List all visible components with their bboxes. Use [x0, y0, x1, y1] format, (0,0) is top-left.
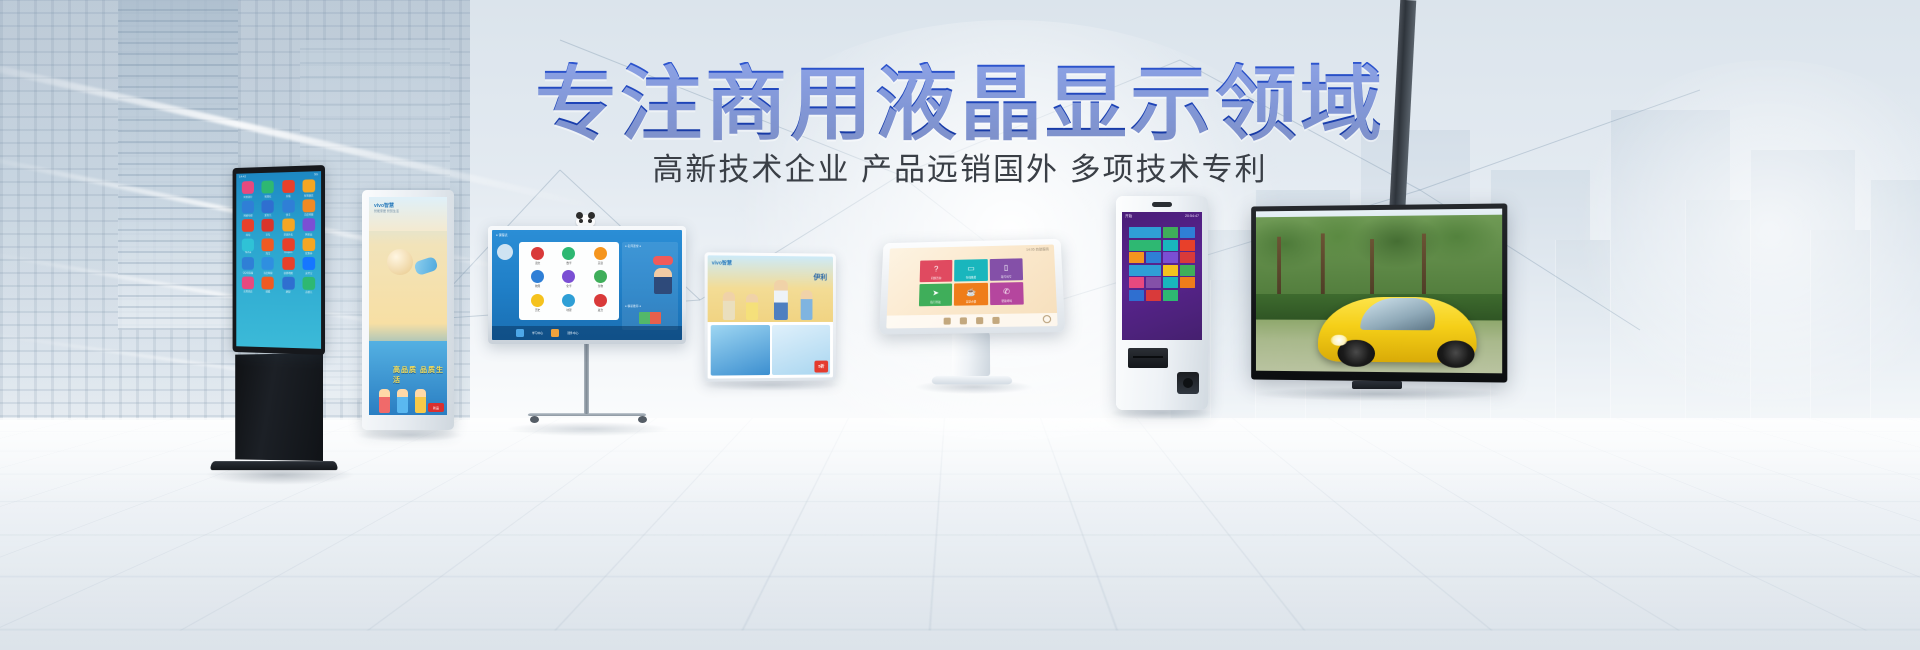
- iwb-subject-1[interactable]: 数学: [554, 247, 583, 268]
- win-clock: 20:54:47: [1185, 214, 1199, 219]
- app-label: QQ浏览器: [239, 270, 257, 274]
- win-tile-13[interactable]: [1129, 277, 1144, 288]
- app-label: 应用商店: [239, 289, 257, 293]
- win-tile-15[interactable]: [1163, 277, 1178, 288]
- subject-label: 历史: [523, 308, 552, 312]
- wall-figure-2: [746, 294, 758, 320]
- kiosk-app-20[interactable]: 应用商店: [239, 276, 257, 293]
- app-icon: [302, 199, 315, 212]
- wall-promo-cell-2: 5折: [772, 325, 830, 375]
- kiosk-app-9[interactable]: 京东: [259, 219, 277, 236]
- iwb-speech-bubble: [653, 256, 673, 265]
- win-bezel: 开始 20:54:47: [1116, 196, 1208, 410]
- iwb-subject-5[interactable]: 生物: [586, 270, 615, 291]
- device-wall-mounted-ad-monitor[interactable]: vivo智慧 伊利 5折: [705, 253, 845, 393]
- win-tile-8[interactable]: [1163, 252, 1178, 263]
- iwb-teacher-figure: [654, 268, 672, 294]
- table-base: [931, 376, 1013, 384]
- app-label: 高德地图: [279, 270, 297, 274]
- page-title: 专注商用液晶显示领域: [0, 62, 1920, 148]
- kiosk-screen-bezel: 14:42 5G 阿里旅行智慧社天猫智慧餐饮网络电视爱奇艺快手百度地图闪电京东美…: [233, 165, 325, 355]
- kiosk-app-17[interactable]: 百度网盘: [259, 257, 277, 274]
- kiosk-app-19[interactable]: 支付宝: [299, 257, 318, 274]
- app-label: 京东: [259, 232, 277, 236]
- app-icon: [302, 238, 315, 251]
- app-label: 快手: [279, 212, 297, 216]
- device-large-lcd-tv[interactable]: [1248, 205, 1516, 395]
- app-icon: [242, 257, 254, 270]
- app-label: 网络电视: [239, 213, 257, 217]
- app-label: 携程: [279, 290, 297, 294]
- device-wall-vertical-ad-display[interactable]: vivo智慧 智能家居 智慧生活 高品质 品质生活 新品: [362, 190, 460, 440]
- app-icon: [302, 276, 315, 289]
- app-label: 天猫: [279, 193, 297, 197]
- win-tile-4[interactable]: [1163, 240, 1178, 251]
- kiosk-app-14[interactable]: Coupon: [279, 238, 297, 255]
- table-tile-grid[interactable]: ?问题咨询▭在线缴费▯取号叫号➤指引导航☕自助点餐✆帮助呼叫: [919, 258, 1024, 306]
- app-label: 优惠券: [299, 251, 318, 255]
- vad-bezel: vivo智慧 智能家居 智慧生活 高品质 品质生活 新品: [362, 190, 454, 430]
- kiosk-app-6[interactable]: 快手: [279, 199, 297, 217]
- app-label: 美团外卖: [279, 232, 297, 236]
- device-touch-table-kiosk[interactable]: 14:05 自助服务 ?问题咨询▭在线缴费▯取号叫号➤指引导航☕自助点餐✆帮助呼…: [880, 238, 1080, 403]
- iwb-topbar-title: ● 课程表: [496, 233, 508, 237]
- win-tile-16[interactable]: [1180, 277, 1195, 288]
- vad-screen[interactable]: vivo智慧 智能家居 智慧生活 高品质 品质生活 新品: [369, 197, 447, 415]
- app-icon: [262, 238, 274, 251]
- app-icon: [302, 179, 315, 192]
- tv-stand: [1352, 381, 1402, 389]
- kiosk-app-3[interactable]: 智慧餐饮: [299, 179, 318, 197]
- subject-icon: [531, 294, 544, 307]
- kiosk-app-5[interactable]: 爱奇艺: [259, 200, 277, 217]
- kiosk-app-1[interactable]: 智慧社: [259, 180, 277, 198]
- iwb-screen[interactable]: ● 课程表 语文数学英语物理化学生物历史地理政治 ● 名师课堂 ● ● 精彩推荐…: [492, 230, 682, 340]
- table-tile-1[interactable]: ▭在线缴费: [954, 259, 987, 281]
- search-icon[interactable]: [1043, 315, 1052, 323]
- table-bezel: 14:05 自助服务 ?问题咨询▭在线缴费▯取号叫号➤指引导航☕自助点餐✆帮助呼…: [879, 239, 1065, 335]
- iwb-book-icon: [639, 312, 661, 324]
- kiosk-app-18[interactable]: 高德地图: [279, 257, 297, 274]
- kiosk-app-0[interactable]: 阿里旅行: [239, 181, 257, 198]
- tile-label: 帮助呼叫: [990, 299, 1024, 304]
- win-tile-5[interactable]: [1180, 240, 1195, 251]
- win-tile-grid[interactable]: [1122, 221, 1202, 307]
- kiosk-app-16[interactable]: QQ浏览器: [239, 257, 257, 274]
- subject-icon: [562, 247, 575, 260]
- app-icon: [282, 257, 294, 270]
- kiosk-clock: 14:42: [239, 174, 246, 178]
- vad-decoration-ball: [387, 249, 413, 275]
- app-icon: [282, 199, 294, 212]
- iwb-bezel: ● 课程表 语文数学英语物理化学生物历史地理政治 ● 名师课堂 ● ● 精彩推荐…: [488, 226, 686, 344]
- app-label: 搜狐: [259, 289, 277, 293]
- kiosk-app-22[interactable]: 携程: [279, 276, 297, 293]
- app-label: 闪电: [239, 232, 257, 236]
- wall-figure-4: [801, 290, 813, 320]
- iwb-subject-7[interactable]: 地理: [554, 294, 583, 315]
- vad-decoration-hand: [413, 256, 438, 276]
- vad-figure-1: [379, 389, 390, 413]
- kiosk-app-13[interactable]: 淘宝: [259, 238, 277, 255]
- subject-label: 语文: [523, 261, 552, 265]
- table-dock-icon-voice[interactable]: [959, 317, 966, 324]
- app-label: 百度地图: [299, 212, 318, 216]
- wall-promo-cell-1: [711, 325, 770, 376]
- device-windows-self-service-terminal[interactable]: 开始 20:54:47: [1116, 196, 1216, 418]
- subject-icon: [531, 247, 544, 260]
- kiosk-base-foot: [209, 461, 338, 470]
- subject-label: 地理: [554, 308, 583, 312]
- app-icon: [242, 181, 254, 194]
- kiosk-app-11[interactable]: 网易云: [299, 218, 318, 236]
- tile-icon: ?: [934, 265, 939, 274]
- wall-logo: vivo智慧: [712, 259, 732, 266]
- win-tile-1[interactable]: [1163, 227, 1178, 238]
- tile-label: 在线缴费: [954, 275, 987, 279]
- app-icon: [282, 218, 294, 231]
- table-dock-icon-back[interactable]: [992, 317, 999, 324]
- app-icon: [302, 218, 315, 231]
- kiosk-body-column: [235, 353, 323, 461]
- iwb-taskbar-label-1: 学习中心: [532, 331, 543, 335]
- subject-icon: [562, 270, 575, 283]
- wall-brand: 伊利: [813, 272, 827, 282]
- iwb-side-title-2: ● 精彩推荐 ●: [622, 302, 644, 310]
- iwb-subject-grid[interactable]: 语文数学英语物理化学生物历史地理政治: [519, 242, 619, 320]
- table-dock-icon-home[interactable]: [943, 318, 950, 325]
- tile-label: 指引导航: [919, 300, 952, 304]
- vad-logo: vivo智慧: [374, 202, 394, 209]
- tile-icon: ▭: [967, 264, 974, 273]
- iwb-subject-3[interactable]: 物理: [523, 270, 552, 291]
- app-label: 爱奇艺: [259, 213, 277, 217]
- kiosk-app-23[interactable]: 去哪儿: [299, 276, 318, 294]
- wall-screen[interactable]: vivo智慧 伊利 5折: [708, 255, 833, 378]
- win-tile-0[interactable]: [1129, 227, 1161, 238]
- vad-shadow: [358, 428, 462, 442]
- subject-icon: [531, 270, 544, 283]
- table-tile-2[interactable]: ▯取号叫号: [989, 258, 1023, 281]
- iwb-taskbar-icon-2[interactable]: [551, 329, 559, 337]
- app-label: 智慧餐饮: [299, 193, 318, 197]
- vad-headline: 高品质 品质生活: [393, 365, 447, 385]
- vad-figure-2: [397, 389, 408, 413]
- table-header: 14:05 自助服务: [1026, 246, 1049, 251]
- app-icon: [262, 200, 274, 213]
- iwb-subject-6[interactable]: 历史: [523, 294, 552, 315]
- app-icon: [262, 180, 274, 193]
- tile-label: 自助点餐: [954, 299, 988, 303]
- tv-car-wheel-rear: [1437, 340, 1475, 368]
- subject-label: 生物: [586, 284, 615, 288]
- win-tile-19[interactable]: [1163, 290, 1178, 301]
- tile-icon: ☕: [966, 288, 976, 297]
- win-screen[interactable]: 开始 20:54:47: [1122, 212, 1202, 340]
- iwb-side-title: ● 名师课堂 ●: [622, 242, 678, 250]
- iwb-subject-2[interactable]: 英语: [586, 247, 615, 268]
- subject-icon: [562, 294, 575, 307]
- kiosk-app-7[interactable]: 百度地图: [299, 199, 318, 217]
- table-neck: [952, 330, 990, 376]
- subject-icon: [594, 247, 607, 260]
- subject-icon: [594, 294, 607, 307]
- kiosk-app-4[interactable]: 网络电视: [239, 200, 257, 217]
- app-icon: [262, 219, 274, 232]
- table-tile-3[interactable]: ➤指引导航: [919, 283, 953, 306]
- wall-figure-1: [723, 292, 735, 320]
- table-screen[interactable]: 14:05 自助服务 ?问题咨询▭在线缴费▯取号叫号➤指引导航☕自助点餐✆帮助呼…: [886, 244, 1057, 328]
- win-tile-10[interactable]: [1129, 265, 1161, 276]
- device-floor-standing-kiosk[interactable]: 14:42 5G 阿里旅行智慧社天猫智慧餐饮网络电视爱奇艺快手百度地图闪电京东美…: [205, 165, 325, 480]
- app-icon: [242, 276, 254, 289]
- win-tile-11[interactable]: [1163, 265, 1178, 276]
- win-tile-3[interactable]: [1129, 240, 1161, 251]
- receipt-printer-slot: [1128, 348, 1168, 368]
- kiosk-app-15[interactable]: 优惠券: [299, 238, 318, 255]
- win-tile-14[interactable]: [1146, 277, 1161, 288]
- kiosk-app-12[interactable]: TikTok: [239, 238, 257, 255]
- app-icon: [262, 276, 274, 289]
- win-tile-7[interactable]: [1146, 252, 1161, 263]
- tile-icon: ▯: [1004, 263, 1009, 272]
- app-icon: [242, 219, 254, 232]
- table-tile-4[interactable]: ☕自助点餐: [954, 283, 988, 306]
- subject-label: 化学: [554, 284, 583, 288]
- table-dock[interactable]: [886, 313, 1057, 329]
- iwb-subject-4[interactable]: 化学: [554, 270, 583, 291]
- kiosk-app-10[interactable]: 美团外卖: [279, 218, 297, 235]
- product-banner: 专注商用液晶显示领域 高新技术企业 产品远销国外 多项技术专利 14:42 5G…: [0, 0, 1920, 650]
- tile-icon: ✆: [1003, 287, 1010, 296]
- iwb-caster-left: [530, 416, 539, 423]
- table-tile-5[interactable]: ✆帮助呼叫: [990, 282, 1024, 305]
- kiosk-signal: 5G: [314, 172, 318, 176]
- camera-icon: [1152, 202, 1172, 207]
- app-label: Coupon: [279, 251, 297, 254]
- vad-figure-3: [415, 389, 426, 413]
- tile-icon: ➤: [932, 289, 939, 298]
- win-start-label: 开始: [1125, 214, 1132, 219]
- vad-screen-bottom: 高品质 品质生活 新品: [369, 341, 447, 415]
- subject-label: 物理: [523, 284, 552, 288]
- iwb-caster-right: [638, 416, 647, 423]
- app-label: TikTok: [239, 251, 257, 254]
- wall-price-badge: 5折: [814, 361, 828, 373]
- win-tile-2[interactable]: [1180, 227, 1195, 238]
- app-icon: [242, 238, 254, 251]
- app-label: 淘宝: [259, 251, 277, 255]
- table-dock-icon-print[interactable]: [976, 317, 983, 324]
- vad-logo-sub: 智能家居 智慧生活: [374, 209, 399, 213]
- app-icon: [242, 200, 254, 213]
- table-tile-0[interactable]: ?问题咨询: [920, 260, 953, 282]
- app-icon: [282, 276, 294, 289]
- app-label: 去哪儿: [299, 290, 318, 294]
- iwb-stand-pole: [584, 344, 589, 414]
- qr-scanner-icon: [1177, 372, 1199, 394]
- kiosk-app-21[interactable]: 搜狐: [259, 276, 277, 293]
- tv-bezel: [1251, 203, 1507, 382]
- wall-bezel: vivo智慧 伊利 5折: [705, 252, 836, 381]
- app-label: 智慧社: [259, 194, 277, 198]
- kiosk-app-2[interactable]: 天猫: [279, 180, 297, 198]
- iwb-topbar: ● 课程表: [492, 230, 682, 239]
- iwb-taskbar-icon-1[interactable]: [516, 329, 524, 337]
- wall-screen-bottom: 5折: [708, 322, 833, 379]
- win-tile-9[interactable]: [1180, 252, 1195, 263]
- tv-shadow: [1256, 387, 1500, 401]
- win-tile-12[interactable]: [1180, 265, 1195, 276]
- wall-figure-3: [774, 280, 788, 320]
- win-tile-18[interactable]: [1146, 290, 1161, 301]
- iwb-user-avatar[interactable]: [497, 244, 513, 260]
- win-tile-17[interactable]: [1129, 290, 1144, 301]
- win-tile-6[interactable]: [1129, 252, 1144, 263]
- vad-badge: 新品: [428, 403, 444, 412]
- subject-label: 数学: [554, 261, 583, 265]
- device-interactive-whiteboard[interactable]: ● 课程表 语文数学英语物理化学生物历史地理政治 ● 名师课堂 ● ● 精彩推荐…: [488, 226, 698, 441]
- iwb-subject-0[interactable]: 语文: [523, 247, 552, 268]
- app-label: 支付宝: [299, 270, 318, 274]
- kiosk-screen[interactable]: 14:42 5G 阿里旅行智慧社天猫智慧餐饮网络电视爱奇艺快手百度地图闪电京东美…: [236, 171, 321, 349]
- subject-icon: [594, 270, 607, 283]
- iwb-taskbar[interactable]: 学习中心 课件中心: [492, 326, 682, 340]
- iwb-shadow: [508, 422, 668, 436]
- iwb-subject-8[interactable]: 政治: [586, 294, 615, 315]
- app-icon: [282, 238, 294, 251]
- iwb-taskbar-label-2: 课件中心: [567, 331, 578, 335]
- subject-label: 英语: [586, 261, 615, 265]
- app-label: 阿里旅行: [239, 194, 257, 198]
- kiosk-app-8[interactable]: 闪电: [239, 219, 257, 236]
- win-statusbar: 开始 20:54:47: [1122, 212, 1202, 221]
- tile-label: 问题咨询: [920, 276, 953, 280]
- app-label: 网易云: [299, 232, 318, 236]
- tv-screen[interactable]: [1256, 209, 1502, 374]
- app-icon: [282, 180, 294, 193]
- app-icon: [302, 257, 315, 270]
- app-label: 百度网盘: [259, 270, 277, 274]
- tile-label: 取号叫号: [990, 274, 1024, 279]
- subject-label: 政治: [586, 308, 615, 312]
- iwb-side-panel: ● 名师课堂 ● ● 精彩推荐 ●: [622, 242, 678, 330]
- app-icon: [262, 257, 274, 270]
- kiosk-app-grid[interactable]: 阿里旅行智慧社天猫智慧餐饮网络电视爱奇艺快手百度地图闪电京东美团外卖网易云Tik…: [236, 177, 321, 296]
